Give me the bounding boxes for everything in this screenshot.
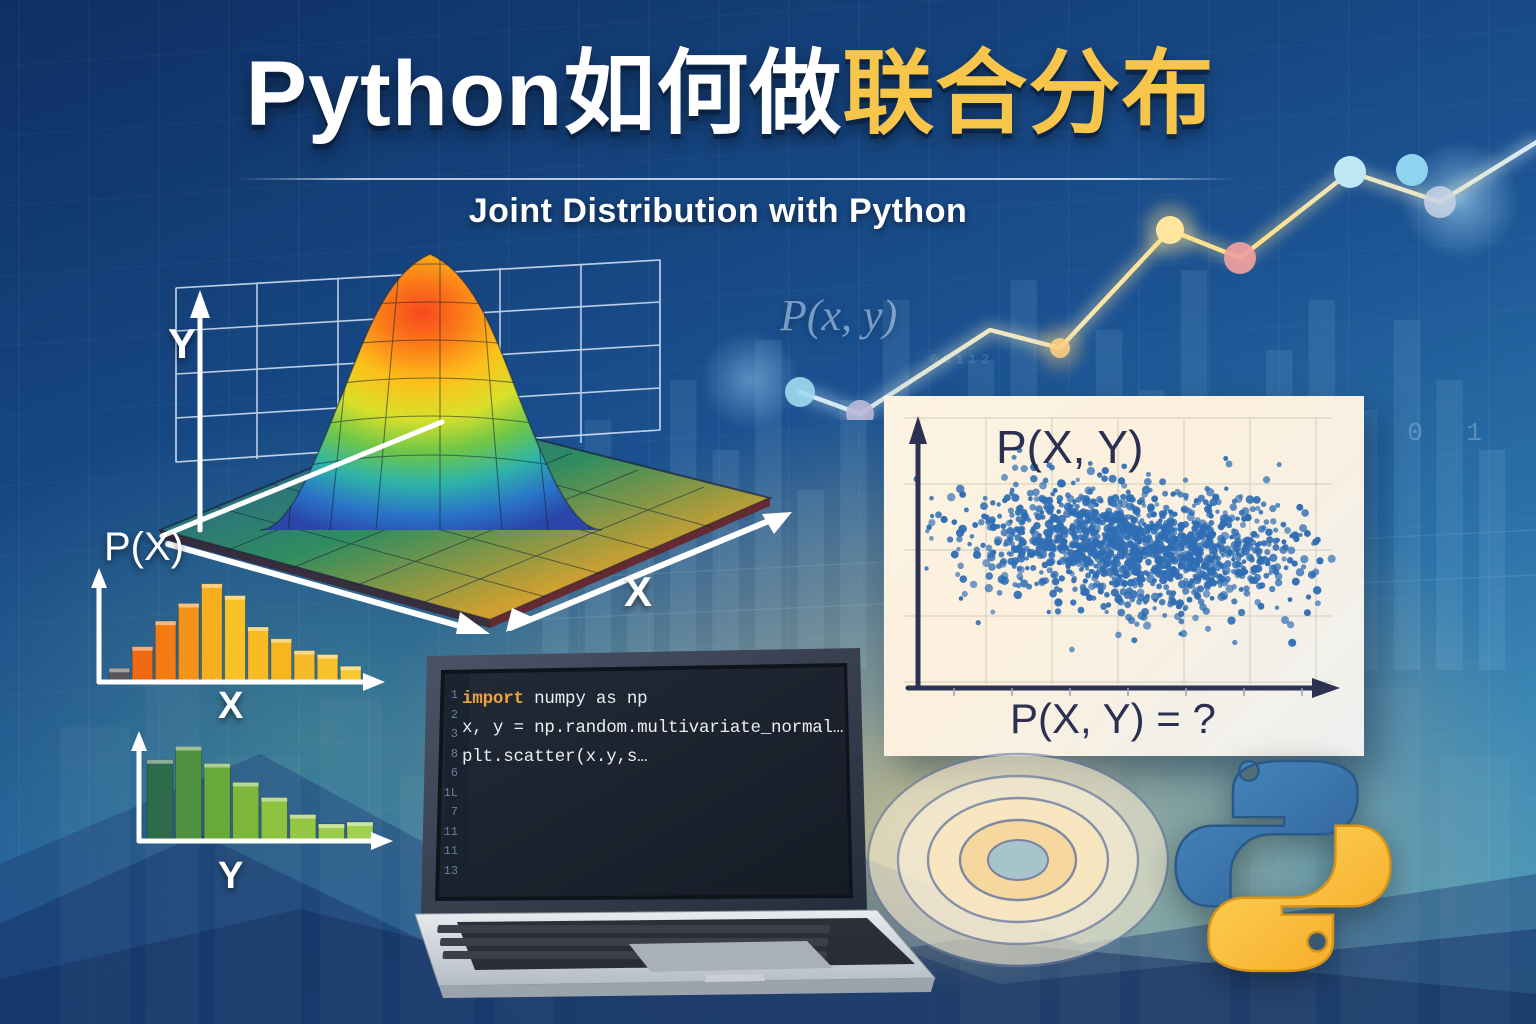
scatter-point bbox=[1154, 528, 1159, 533]
scatter-point bbox=[1096, 496, 1103, 503]
scatter-point bbox=[1016, 526, 1024, 534]
scatter-point bbox=[1047, 610, 1051, 614]
scatter-point bbox=[1310, 572, 1315, 577]
scatter-point bbox=[1265, 560, 1271, 566]
scatter-point bbox=[1231, 569, 1236, 574]
code-line-1-rest: numpy as np bbox=[524, 689, 648, 709]
scatter-point bbox=[960, 575, 968, 583]
scatter-point bbox=[1009, 519, 1013, 523]
bar-highlight bbox=[155, 621, 176, 625]
scatter-point bbox=[994, 536, 1003, 545]
scatter-point bbox=[967, 542, 972, 547]
scatter-point bbox=[1122, 580, 1128, 586]
bar-highlight bbox=[317, 655, 338, 659]
scatter-point bbox=[1226, 461, 1233, 468]
scatter-point bbox=[951, 551, 959, 559]
scatter-point bbox=[978, 519, 984, 525]
scatter-point bbox=[1025, 566, 1029, 570]
scatter-point bbox=[1055, 526, 1062, 533]
scatter-point bbox=[1083, 538, 1090, 545]
scatter-point bbox=[1054, 534, 1061, 541]
scatter-point bbox=[1219, 549, 1226, 556]
bar-highlight bbox=[248, 627, 269, 631]
scatter-point bbox=[1132, 517, 1138, 523]
scatter-point bbox=[1134, 537, 1141, 544]
scatter-point bbox=[1080, 567, 1084, 571]
scatter-point bbox=[1236, 556, 1242, 562]
scatter-point bbox=[1232, 640, 1237, 645]
scatter-point bbox=[1255, 542, 1261, 548]
bar bbox=[317, 655, 338, 682]
scatter-point bbox=[1304, 609, 1311, 616]
scatter-point bbox=[1095, 530, 1099, 534]
scatter-plot-label: P(X, Y) bbox=[996, 420, 1143, 474]
scatter-point bbox=[947, 493, 955, 501]
code-editor-content[interactable]: import numpy as np x, y = np.random.mult… bbox=[462, 688, 840, 775]
scatter-point bbox=[1016, 573, 1023, 580]
bar bbox=[271, 639, 292, 682]
scatter-point bbox=[1092, 515, 1098, 521]
scatter-point bbox=[1277, 462, 1282, 467]
scatter-point bbox=[1241, 538, 1246, 543]
scatter-point bbox=[1160, 524, 1168, 532]
scatter-point bbox=[1001, 523, 1007, 529]
scatter-point bbox=[1007, 551, 1011, 555]
scatter-point bbox=[1235, 495, 1243, 503]
scatter-point bbox=[1208, 513, 1213, 518]
bar bbox=[178, 603, 199, 682]
scatter-point bbox=[1049, 552, 1053, 556]
scatter-point bbox=[1028, 496, 1033, 501]
scatter-point bbox=[1154, 539, 1159, 544]
bar-highlight bbox=[109, 668, 130, 672]
scatter-point bbox=[1288, 597, 1293, 602]
bar-highlight bbox=[294, 651, 315, 655]
scatter-point bbox=[1176, 599, 1184, 607]
scatter-point bbox=[1288, 639, 1296, 647]
scatter-point bbox=[1228, 514, 1235, 521]
bar-highlight bbox=[290, 815, 316, 819]
scatter-point bbox=[1269, 554, 1277, 562]
bar bbox=[233, 782, 259, 841]
scatter-point bbox=[1208, 532, 1213, 537]
scatter-point bbox=[1070, 599, 1076, 605]
scatter-point bbox=[1261, 525, 1266, 530]
scatter-point bbox=[1272, 544, 1279, 551]
scatter-point bbox=[1013, 482, 1019, 488]
scatter-point bbox=[1189, 541, 1194, 546]
scatter-point bbox=[1230, 549, 1235, 554]
bar-highlight bbox=[347, 822, 373, 826]
histogram-y bbox=[125, 725, 405, 855]
scatter-point bbox=[1256, 559, 1262, 565]
scatter-point bbox=[1109, 475, 1117, 483]
code-line-3: plt.scatter(x.y,s… bbox=[462, 746, 840, 775]
scatter-point bbox=[1192, 558, 1196, 562]
scatter-point bbox=[1204, 554, 1212, 562]
scatter-point bbox=[1239, 551, 1245, 557]
scatter-point bbox=[1220, 519, 1227, 526]
bar bbox=[261, 798, 287, 841]
scatter-point bbox=[1130, 504, 1135, 509]
scatter-point bbox=[1292, 578, 1300, 586]
scatter-point bbox=[1173, 527, 1177, 531]
scatter-point bbox=[1166, 517, 1173, 524]
scatter-point bbox=[1296, 504, 1303, 511]
scatter-point bbox=[1014, 591, 1023, 600]
scatter-point bbox=[1242, 559, 1247, 564]
code-line-2-rest: x, y = np.random.multivariate_normal… bbox=[462, 718, 843, 738]
scatter-point bbox=[1136, 550, 1142, 556]
bar-highlight bbox=[261, 798, 287, 802]
scatter-point bbox=[1094, 503, 1099, 508]
scatter-point bbox=[1267, 542, 1272, 547]
scatter-point bbox=[1059, 575, 1065, 581]
scatter-point bbox=[1137, 589, 1145, 597]
scatter-point bbox=[986, 545, 993, 552]
scatter-point bbox=[1239, 587, 1244, 592]
scatter-point bbox=[1163, 570, 1171, 578]
scatter-point bbox=[1090, 508, 1096, 514]
scatter-point bbox=[1050, 514, 1057, 521]
scatter-point bbox=[1117, 609, 1125, 617]
scatter-point bbox=[1106, 555, 1112, 561]
scatter-point bbox=[1017, 566, 1022, 571]
scatter-point bbox=[1159, 510, 1166, 517]
scatter-point bbox=[1027, 518, 1032, 523]
scatter-point bbox=[1076, 478, 1080, 482]
scatter-point bbox=[1091, 486, 1096, 491]
scatter-plot-caption: P(X, Y) = ? bbox=[1010, 695, 1216, 743]
scatter-point bbox=[1197, 531, 1205, 539]
scatter-point bbox=[1282, 556, 1287, 561]
scatter-point bbox=[1161, 533, 1167, 539]
scatter-point bbox=[1227, 616, 1235, 624]
scatter-point bbox=[1236, 552, 1240, 556]
scatter-point bbox=[1015, 509, 1022, 516]
scatter-point bbox=[1043, 528, 1051, 536]
scatter-point bbox=[1069, 647, 1075, 653]
scatter-point bbox=[1030, 565, 1036, 571]
scatter-point bbox=[1057, 479, 1065, 487]
scatter-point bbox=[1062, 556, 1068, 562]
scatter-point bbox=[1270, 518, 1276, 524]
scatter-point bbox=[1210, 580, 1216, 586]
scatter-point bbox=[1045, 520, 1053, 528]
scatter-point bbox=[1249, 577, 1256, 584]
scatter-point bbox=[1312, 538, 1319, 545]
scatter-point bbox=[1231, 598, 1237, 604]
bar bbox=[204, 763, 230, 841]
scatter-point bbox=[1288, 547, 1296, 555]
scatter-point bbox=[999, 560, 1007, 568]
scatter-point bbox=[1164, 547, 1169, 552]
scatter-point bbox=[1163, 584, 1169, 590]
scatter-point bbox=[997, 590, 1003, 596]
scatter-point bbox=[1316, 557, 1323, 564]
scatter-point bbox=[1075, 556, 1082, 563]
scatter-point bbox=[1296, 568, 1304, 576]
scatter-point bbox=[1253, 496, 1261, 504]
scatter-point bbox=[1076, 497, 1082, 503]
scatter-point bbox=[1132, 578, 1140, 586]
scatter-point bbox=[1116, 577, 1122, 583]
scatter-point bbox=[1300, 555, 1308, 563]
scatter-point bbox=[1299, 524, 1307, 532]
scatter-point bbox=[1259, 510, 1264, 515]
scatter-point bbox=[1101, 568, 1105, 572]
code-line-number: 6 bbox=[440, 764, 458, 784]
bar-highlight bbox=[178, 603, 199, 607]
scatter-point bbox=[1256, 548, 1261, 553]
scatter-point bbox=[1223, 571, 1228, 576]
scatter-point bbox=[1169, 526, 1173, 530]
scatter-point bbox=[1261, 540, 1267, 546]
scatter-point bbox=[1114, 572, 1119, 577]
scatter-point bbox=[1067, 549, 1074, 556]
scatter-point bbox=[1265, 528, 1273, 536]
scatter-point bbox=[1027, 490, 1034, 497]
bar-highlight bbox=[202, 584, 223, 588]
scatter-point bbox=[1230, 503, 1238, 511]
scatter-point bbox=[1264, 519, 1270, 525]
scatter-point bbox=[1007, 535, 1012, 540]
scatter-point bbox=[1039, 570, 1044, 575]
scatter-point bbox=[1102, 532, 1106, 536]
scatter-point bbox=[1313, 586, 1321, 594]
scatter-point bbox=[1029, 537, 1037, 545]
scatter-point bbox=[1234, 540, 1241, 547]
scatter-point bbox=[980, 502, 988, 510]
bar bbox=[155, 621, 176, 682]
scatter-point bbox=[1183, 477, 1188, 482]
scatter-point bbox=[1125, 552, 1132, 559]
scatter-point bbox=[997, 514, 1002, 519]
scatter-point bbox=[1178, 491, 1184, 497]
scatter-point bbox=[1072, 511, 1078, 517]
scatter-point bbox=[1011, 494, 1019, 502]
title-white-part: Python如何做 bbox=[246, 43, 843, 145]
scatter-point bbox=[1187, 597, 1193, 603]
bar-highlight bbox=[233, 782, 259, 786]
scatter-point bbox=[983, 496, 988, 501]
scatter-point bbox=[1135, 567, 1140, 572]
page-subtitle: Joint Distribution with Python bbox=[0, 192, 1436, 231]
scatter-point bbox=[1284, 527, 1291, 534]
scatter-point bbox=[1198, 495, 1205, 502]
scatter-point bbox=[1146, 472, 1151, 477]
scatter-point bbox=[976, 620, 981, 625]
scatter-point bbox=[1143, 622, 1151, 630]
scatter-point bbox=[1044, 505, 1052, 513]
scatter-point bbox=[1096, 519, 1103, 526]
bar-highlight bbox=[318, 824, 344, 828]
scatter-point bbox=[1239, 568, 1247, 576]
scatter-point bbox=[1118, 599, 1125, 606]
scatter-point bbox=[1167, 553, 1172, 558]
scatter-point bbox=[1027, 549, 1031, 553]
scatter-point bbox=[1284, 565, 1289, 570]
scatter-point bbox=[1275, 538, 1280, 543]
scatter-point bbox=[1123, 546, 1127, 550]
bar bbox=[147, 760, 173, 841]
scatter-point bbox=[1089, 569, 1094, 574]
scatter-point bbox=[1269, 505, 1276, 512]
scatter-point bbox=[1216, 580, 1221, 585]
scatter-point bbox=[972, 522, 978, 528]
scatter-point bbox=[1029, 504, 1036, 511]
bar-highlight bbox=[176, 746, 202, 750]
scatter-point bbox=[1140, 500, 1145, 505]
scatter-point bbox=[1063, 510, 1071, 518]
scatter-point bbox=[1292, 560, 1298, 566]
bar-highlight bbox=[271, 639, 292, 643]
scatter-point bbox=[1101, 572, 1105, 576]
bar bbox=[132, 647, 153, 682]
scatter-point bbox=[1221, 532, 1230, 541]
scatter-point bbox=[1178, 618, 1184, 624]
scatter-point bbox=[1106, 602, 1111, 607]
scatter-point bbox=[1167, 538, 1172, 543]
scatter-point bbox=[1254, 599, 1261, 606]
scatter-point bbox=[1281, 616, 1289, 624]
scatter-point bbox=[1134, 621, 1139, 626]
scatter-point bbox=[929, 536, 934, 541]
scatter-point bbox=[1112, 517, 1116, 521]
background-line-chart bbox=[740, 130, 1536, 420]
scatter-point bbox=[1183, 578, 1188, 583]
scatter-point bbox=[1242, 545, 1248, 551]
scatter-point bbox=[1187, 513, 1195, 521]
scatter-point bbox=[1246, 554, 1254, 562]
scatter-point bbox=[1157, 593, 1162, 598]
scatter-point bbox=[1070, 543, 1075, 548]
scatter-point bbox=[1078, 607, 1085, 614]
scatter-point bbox=[1055, 608, 1061, 614]
scatter-point bbox=[985, 572, 993, 580]
code-line-1: import numpy as np bbox=[462, 688, 840, 717]
scatter-point bbox=[1057, 499, 1062, 504]
scatter-point bbox=[1220, 591, 1229, 600]
scatter-point bbox=[1231, 557, 1235, 561]
scatter-point bbox=[1203, 533, 1207, 537]
scatter-point bbox=[1250, 531, 1257, 538]
scatter-point bbox=[1050, 572, 1056, 578]
scatter-point bbox=[962, 591, 968, 597]
scatter-point bbox=[989, 516, 996, 523]
scatter-point bbox=[1259, 582, 1265, 588]
scatter-point bbox=[1194, 565, 1202, 573]
scatter-point bbox=[1145, 558, 1152, 565]
scatter-point bbox=[1137, 521, 1142, 526]
title-divider bbox=[236, 178, 1236, 180]
scatter-point bbox=[1060, 542, 1065, 547]
scatter-point bbox=[1245, 537, 1252, 544]
scatter-point bbox=[1105, 516, 1111, 522]
scatter-point bbox=[1197, 585, 1204, 592]
scatter-point bbox=[1226, 523, 1232, 529]
scatter-point bbox=[1147, 503, 1155, 511]
scatter-point bbox=[1177, 545, 1184, 552]
scatter-point bbox=[1148, 488, 1153, 493]
scatter-point bbox=[1273, 528, 1278, 533]
scatter-point bbox=[1120, 588, 1127, 595]
scatter-point bbox=[1191, 590, 1196, 595]
scatter-point bbox=[1162, 613, 1167, 618]
scatter-point bbox=[1042, 562, 1049, 569]
scatter-point bbox=[1204, 505, 1212, 513]
scatter-point bbox=[1224, 514, 1230, 520]
scatter-point bbox=[1115, 542, 1122, 549]
scatter-point bbox=[1066, 569, 1071, 574]
scatter-point bbox=[1084, 513, 1089, 518]
scatter-point bbox=[1142, 596, 1149, 603]
scatter-point bbox=[1174, 572, 1181, 579]
scatter-point bbox=[1129, 590, 1138, 599]
scatter-point bbox=[980, 543, 985, 548]
scatter-point bbox=[1115, 632, 1122, 639]
scatter-point bbox=[1039, 482, 1047, 490]
scatter-point bbox=[1112, 527, 1118, 533]
scatter-point bbox=[987, 524, 994, 531]
code-line-2: x, y = np.random.multivariate_normal… bbox=[462, 717, 840, 746]
scatter-point bbox=[957, 563, 963, 569]
scatter-point bbox=[1011, 560, 1018, 567]
code-line-number: 2 bbox=[440, 706, 458, 726]
scatter-point bbox=[987, 553, 996, 562]
scatter-point bbox=[955, 572, 960, 577]
scatter-point bbox=[1093, 564, 1098, 569]
scatter-point bbox=[1118, 477, 1125, 484]
scatter-point bbox=[1124, 601, 1131, 608]
code-gutter: 123861L7111113 bbox=[440, 686, 458, 881]
scatter-point bbox=[1083, 578, 1087, 582]
bar bbox=[248, 627, 269, 682]
code-line-number: 1L bbox=[440, 784, 458, 804]
scatter-point bbox=[1182, 587, 1189, 594]
surface-axis-x-label: X bbox=[624, 568, 652, 616]
scatter-point bbox=[1082, 527, 1089, 534]
scatter-point bbox=[1072, 576, 1077, 581]
scatter-point bbox=[1315, 600, 1321, 606]
scatter-point bbox=[1170, 491, 1175, 496]
scatter-point bbox=[1147, 537, 1153, 543]
scatter-point bbox=[1264, 549, 1270, 555]
scatter-point bbox=[1162, 491, 1168, 497]
scatter-point bbox=[1178, 611, 1184, 617]
scatter-point bbox=[925, 529, 930, 534]
scatter-point bbox=[996, 502, 1000, 506]
scatter-point bbox=[1132, 544, 1139, 551]
scatter-point bbox=[1289, 534, 1294, 539]
scatter-point bbox=[1225, 585, 1233, 593]
scatter-point bbox=[1034, 582, 1039, 587]
scatter-point bbox=[1113, 533, 1119, 539]
scatter-point bbox=[1206, 537, 1211, 542]
scatter-point bbox=[1035, 505, 1043, 513]
scatter-point bbox=[1165, 562, 1171, 568]
scatter-point bbox=[1102, 561, 1109, 568]
scatter-point bbox=[1184, 496, 1189, 501]
surface-axis-y-label: Y bbox=[168, 320, 196, 368]
histogram-x-series-label: P(X) bbox=[104, 525, 184, 570]
bar-highlight bbox=[147, 760, 173, 764]
bar bbox=[176, 746, 202, 841]
scatter-point bbox=[1191, 520, 1195, 524]
scatter-point bbox=[1073, 534, 1079, 540]
scatter-point bbox=[1279, 546, 1287, 554]
scatter-point bbox=[1269, 586, 1275, 592]
